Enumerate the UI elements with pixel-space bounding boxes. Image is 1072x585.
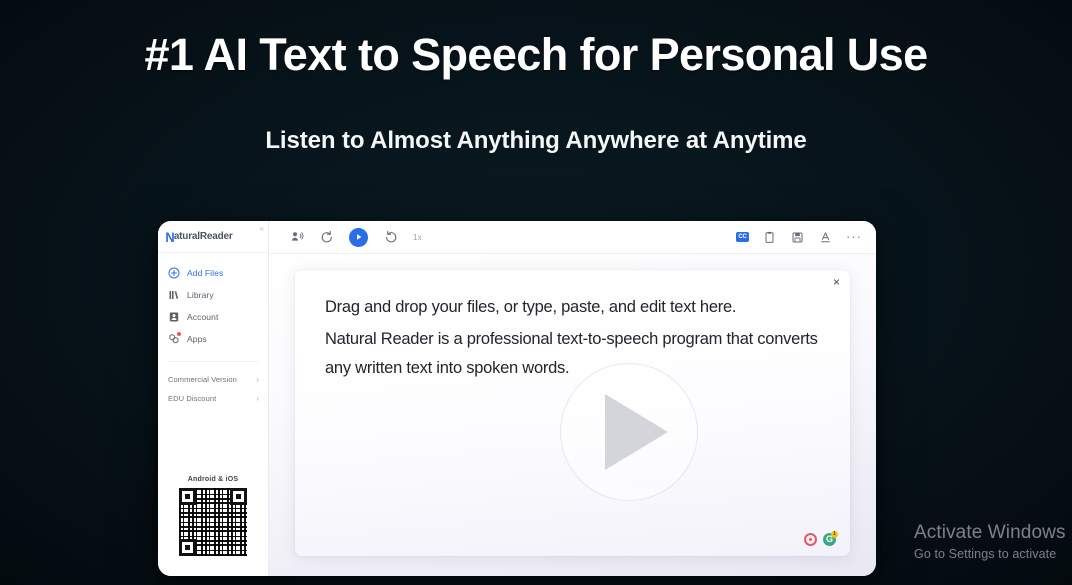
logo-text: aturalReader [174, 231, 233, 242]
page-title: #1 AI Text to Speech for Personal Use [0, 24, 1072, 86]
apps-icon [168, 333, 180, 345]
logo-mark-icon: N [165, 230, 174, 244]
play-button[interactable] [349, 228, 368, 247]
grammarly-icon[interactable]: G 1 [823, 533, 836, 546]
qr-finder-top-left [179, 488, 196, 505]
toolbar-left-group: 1x [289, 228, 422, 247]
sidebar-item-account[interactable]: Account [158, 306, 268, 328]
grammarly-badge: 1 [831, 531, 838, 538]
notification-badge [177, 332, 181, 336]
qr-label: Android & iOS [158, 476, 268, 483]
watermark-subtitle: Go to Settings to activate [914, 545, 1072, 563]
sidebar-item-apps[interactable]: Apps [158, 328, 268, 350]
qr-code-image [179, 488, 247, 556]
chevron-right-icon: › [256, 375, 259, 384]
app-logo[interactable]: NaturalReader « [158, 221, 268, 253]
sidebar-link-label: EDU Discount [168, 394, 216, 403]
sidebar-link-label: Commercial Version [168, 375, 237, 384]
watermark-title: Activate Windows [914, 521, 1072, 545]
playback-speed-label[interactable]: 1x [413, 233, 422, 242]
play-triangle-icon [605, 394, 668, 470]
main-panel: 1x CC [269, 221, 876, 576]
focus-target-icon[interactable] [804, 533, 817, 546]
sidebar-link-commercial-version[interactable]: Commercial Version › [158, 370, 268, 389]
placeholder-paragraph-1: Drag and drop your files, or type, paste… [325, 293, 820, 322]
sidebar-item-label: Account [187, 312, 218, 322]
font-icon[interactable] [818, 230, 833, 245]
sidebar-item-label: Apps [187, 334, 207, 344]
voice-select-icon[interactable] [289, 230, 304, 245]
sidebar: NaturalReader « Add Files [158, 221, 269, 576]
video-play-overlay[interactable] [560, 363, 698, 501]
plus-circle-icon [168, 267, 180, 279]
sidebar-item-add-files[interactable]: Add Files [158, 262, 268, 284]
save-disk-icon[interactable] [790, 230, 805, 245]
hero-section: #1 AI Text to Speech for Personal Use Li… [0, 0, 1072, 158]
person-card-icon [168, 311, 180, 323]
sidebar-link-edu-discount[interactable]: EDU Discount › [158, 389, 268, 408]
mobile-app-qr-block: Android & iOS [158, 476, 268, 576]
books-icon [168, 289, 180, 301]
page-subtitle: Listen to Almost Anything Anywhere at An… [0, 124, 1072, 158]
chevron-right-icon: › [256, 394, 259, 403]
sidebar-item-label: Library [187, 290, 214, 300]
sidebar-item-library[interactable]: Library [158, 284, 268, 306]
qr-finder-bottom-left [179, 539, 196, 556]
editor-content-area: × Drag and drop your files, or type, pas… [269, 254, 876, 576]
placeholder-paragraph-2: Natural Reader is a professional text-to… [325, 325, 820, 383]
forward-icon[interactable] [383, 230, 398, 245]
player-toolbar: 1x CC [269, 221, 876, 254]
cc-badge-icon[interactable]: CC [736, 232, 749, 242]
sidebar-item-label: Add Files [187, 268, 223, 278]
qr-finder-top-right [230, 488, 247, 505]
toolbar-right-group: CC [736, 230, 862, 245]
more-options-icon[interactable]: ··· [846, 234, 862, 240]
rewind-icon[interactable] [319, 230, 334, 245]
windows-activation-watermark: Activate Windows Go to Settings to activ… [890, 521, 1072, 563]
app-window-screenshot: NaturalReader « Add Files [158, 221, 876, 576]
sidebar-nav: Add Files Library [158, 253, 268, 356]
close-icon[interactable]: × [833, 276, 840, 288]
sidebar-links: Commercial Version › EDU Discount › [158, 362, 268, 408]
card-integrations: G 1 [804, 533, 836, 546]
clipboard-icon[interactable] [762, 230, 777, 245]
collapse-sidebar-icon[interactable]: « [260, 225, 264, 233]
